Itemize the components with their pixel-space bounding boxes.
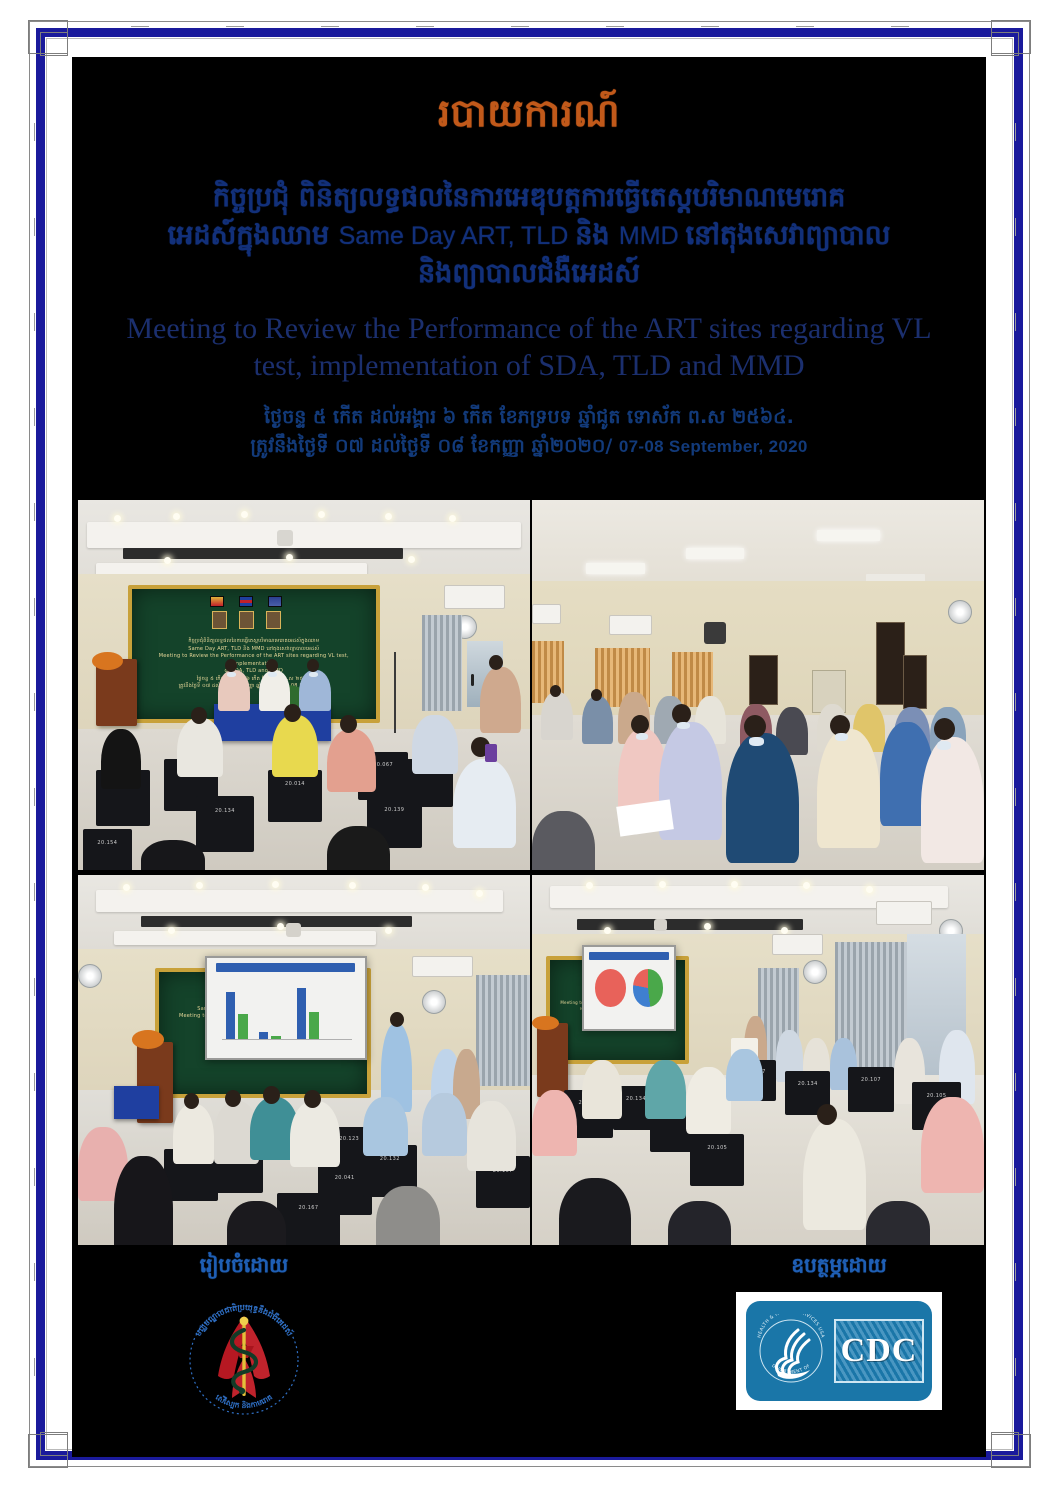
air-conditioner	[609, 615, 652, 636]
audience-head	[591, 689, 602, 701]
face-mask	[835, 733, 848, 741]
audience-member	[376, 1186, 439, 1245]
audience-member	[101, 729, 142, 788]
microphone-icon	[471, 674, 474, 686]
chair: 20.107	[848, 1067, 893, 1111]
air-conditioner	[876, 901, 932, 925]
downlight	[449, 515, 456, 522]
bar	[238, 1014, 247, 1040]
wall-fan-icon	[948, 600, 972, 624]
curtain	[476, 975, 530, 1086]
frame-corner-inner-bottom-left	[40, 1432, 68, 1456]
poster-title-khmer-line2: អេដស៍ក្នុងឈាម Same Day ART, TLD និង MMD …	[98, 217, 960, 255]
door	[903, 655, 928, 709]
date-km-l2: ត្រូវនឹងថ្ងៃទី ០៧ ដល់ថ្ងៃទី ០៨ ខែកញ្ញា ឆ…	[250, 435, 619, 457]
panelist-head	[307, 659, 319, 672]
audience-head	[340, 715, 357, 733]
audience-member	[412, 715, 457, 774]
photo-bar-chart-presentation: Same Day ART, TLD និង MMD នៅតុងសេវាព្យាប…	[78, 875, 530, 1245]
audience-member-front	[866, 1201, 929, 1245]
face-mask	[636, 733, 648, 740]
bar	[309, 1012, 318, 1040]
ceiling-beam	[96, 890, 503, 912]
ceiling-projector	[277, 530, 293, 546]
chair-number: 20.134	[791, 1081, 825, 1087]
audience-member	[177, 718, 222, 777]
poster-title-english: Meeting to Review the Performance of the…	[72, 310, 986, 385]
downlight	[114, 515, 121, 522]
chair-number: 20.041	[324, 1175, 365, 1181]
downlight	[196, 882, 203, 889]
ceiling-projector	[286, 923, 301, 937]
audience-member	[582, 1060, 623, 1119]
ceiling-slot	[577, 919, 803, 930]
board-line: Meeting to Review the Performance of the…	[151, 653, 356, 668]
poster-heading-report: របាយការណ៍	[72, 93, 986, 135]
chair-number: 20.167	[284, 1205, 332, 1211]
air-conditioner	[444, 585, 505, 609]
slide-title-bar	[216, 963, 355, 972]
poster-date-block: ថ្ងៃចន្ទ ៥ កើត ដល់អង្គារ ៦ កើត ខែភទ្របទ …	[72, 403, 986, 462]
mic-stand	[394, 652, 396, 733]
audience-member	[114, 1156, 173, 1245]
photo-pie-chart-presentation: Meeting to Review the Performance of the…	[532, 875, 984, 1245]
poster-title-english-line2: test, implementation of SDA, TLD and MMD	[106, 347, 952, 385]
chair-number: 20.132	[369, 1156, 410, 1162]
downlight	[731, 881, 738, 888]
poster-title-english-line1: Meeting to Review the Performance of the…	[106, 310, 952, 348]
downlight	[173, 513, 180, 520]
door	[749, 655, 778, 705]
poster-date-khmer-line2: ត្រូវនឹងថ្ងៃទី ០៧ ដល់ថ្ងៃទី ០៨ ខែកញ្ញា ឆ…	[102, 432, 956, 461]
nchads-emblem: មជ្ឈមណ្ឌលជាតិប្រយុទ្ធនឹងជំងឺអេដស៍ សើស្បែ…	[178, 1294, 310, 1426]
board-line: កិច្ចប្រជុំពិនិត្យលទ្ធផលនៃការធ្វើតេស្តបរ…	[151, 638, 356, 646]
audience-member	[467, 1101, 517, 1171]
slide-title-bar	[589, 952, 669, 960]
photo-audience	[532, 500, 984, 870]
audience-head	[817, 1104, 837, 1125]
projection-screen	[582, 945, 676, 1030]
cdc-wordmark: CDC	[834, 1319, 924, 1383]
face-mask	[937, 741, 951, 750]
bar	[226, 992, 235, 1040]
audience-member	[541, 692, 573, 740]
poster-date-english: 07-08 September, 2020	[619, 437, 808, 456]
poster-title-khmer-line1: កិច្ចប្រជុំ ពិនិត្យលទ្ធផលនៃការអេឌុបត្តកា…	[98, 179, 960, 217]
title-km-l2-c: នៅតុងសេវាព្យាបាល	[686, 220, 891, 251]
audience-head	[744, 715, 766, 738]
downlight	[318, 511, 325, 518]
poster-date-khmer-line1: ថ្ងៃចន្ទ ៥ កើត ដល់អង្គារ ៦ កើត ខែភទ្របទ …	[102, 403, 956, 432]
phone-screen	[485, 744, 497, 762]
audience-member	[645, 1060, 686, 1119]
audience-member-front	[803, 1119, 866, 1230]
audience-head	[672, 704, 691, 724]
frame-corner-inner-top-right	[991, 32, 1019, 56]
standing-speaker	[480, 667, 521, 734]
ceiling-projector	[654, 919, 667, 931]
title-km-l2-b: និង	[575, 220, 619, 251]
supported-by-label: ឧបត្ថម្ភដោយ	[724, 1252, 954, 1282]
cdc-logo: HEALTH & HUMAN SERVICES USA DEPARTMENT O…	[736, 1292, 942, 1410]
audience-member-front	[559, 1178, 631, 1245]
portrait-photo	[266, 611, 281, 629]
poster-title-khmer: កិច្ចប្រជុំ ពិនិត្យលទ្ធផលនៃការអេឌុបត្តកា…	[72, 179, 986, 294]
audience-member	[272, 715, 317, 778]
board-line: Same Day ART, TLD និង MMD នៅតុងសេវាព្យាប…	[151, 646, 356, 654]
credits-row: រៀបចំដោយ មជ្ឈមណ្ឌលជាតិប្រយុទ្ធនឹងជំងឺអេដ…	[72, 1252, 986, 1452]
downlight	[272, 881, 279, 888]
credit-supported-by: ឧបត្ថម្ភដោយ HEALTH & HUMAN S	[724, 1252, 954, 1410]
title-km-l2-a: អេដស៍ក្នុងឈាម	[168, 220, 339, 251]
flower-arrangement	[132, 1030, 164, 1049]
air-conditioner	[532, 604, 561, 625]
axis	[222, 1039, 352, 1040]
foreground-chair	[532, 811, 595, 870]
audience-member	[726, 1049, 762, 1101]
chair: 20.167	[277, 1193, 340, 1245]
ceiling-light	[817, 530, 880, 541]
pie-chart	[633, 969, 664, 1006]
downlight	[286, 554, 293, 561]
downlight	[277, 923, 284, 930]
chair-number: 20.105	[697, 1145, 738, 1151]
face-mask	[227, 672, 236, 677]
audience-member	[453, 759, 516, 848]
audience-member	[227, 1201, 286, 1245]
face-mask	[268, 672, 277, 677]
title-km-l2-latin2: MMD	[619, 222, 686, 250]
face-mask	[677, 722, 690, 729]
flag-icon	[210, 596, 224, 607]
side-table	[114, 1086, 159, 1119]
photo-grid: កិច្ចប្រជុំពិនិត្យលទ្ធផលនៃការធ្វើតេស្តបរ…	[78, 500, 984, 1245]
chair: 20.105	[690, 1134, 744, 1186]
audience-head	[225, 1090, 241, 1107]
poster-title-khmer-line3: និងព្យាបាលជំងឺអេដស៍	[98, 255, 960, 293]
curtain	[422, 615, 463, 711]
ceiling-light	[686, 548, 745, 559]
audience-member-front	[817, 729, 880, 847]
speaker-box	[704, 622, 727, 644]
audience-member	[422, 1093, 467, 1156]
downlight	[241, 511, 248, 518]
air-conditioner	[412, 956, 473, 977]
title-km-l2-latin1: Same Day ART, TLD	[339, 222, 576, 250]
podium	[537, 1023, 569, 1097]
credit-organized-by: រៀបចំដោយ មជ្ឈមណ្ឌលជាតិប្រយុទ្ធនឹងជំងឺអេដ…	[134, 1252, 354, 1426]
chair-number: 20.014	[274, 781, 315, 787]
chair: 20.014	[268, 770, 322, 822]
ceiling-beam	[87, 522, 521, 548]
stage-banner-board: កិច្ចប្រជុំពិនិត្យលទ្ធផលនៃការធ្វើតេស្តបរ…	[128, 585, 380, 723]
projection-screen	[205, 956, 367, 1060]
chair-number: 20.107	[854, 1077, 888, 1083]
poster-page: របាយការណ៍ កិច្ចប្រជុំ ពិនិត្យលទ្ធផលនៃការ…	[0, 0, 1059, 1496]
cdc-logo-inner: HEALTH & HUMAN SERVICES USA DEPARTMENT O…	[746, 1301, 932, 1401]
flag-icon	[239, 596, 253, 607]
face-mask	[749, 737, 764, 746]
door	[876, 622, 905, 705]
audience-member	[173, 1104, 214, 1163]
downlight	[422, 884, 429, 891]
audience-member	[327, 729, 377, 792]
bar	[297, 988, 306, 1040]
frame-corner-inner-bottom-right	[991, 1432, 1019, 1456]
ceiling-beam	[114, 931, 376, 946]
audience-member	[327, 826, 390, 870]
downlight	[704, 923, 711, 930]
organized-by-label: រៀបចំដោយ	[134, 1252, 354, 1282]
air-conditioner	[772, 934, 824, 955]
downlight	[408, 556, 415, 563]
portrait-photo	[212, 611, 227, 629]
face-mask	[309, 672, 318, 677]
audience-member	[686, 1067, 731, 1134]
audience-member-front	[726, 733, 798, 863]
downlight	[476, 890, 483, 897]
ceiling-light	[586, 563, 645, 574]
red-circle	[595, 969, 626, 1006]
downlight	[781, 927, 788, 934]
hhs-bird-icon: HEALTH & HUMAN SERVICES USA DEPARTMENT O…	[754, 1314, 828, 1388]
audience-head	[550, 685, 561, 697]
downlight	[659, 881, 666, 888]
audience-member-front	[668, 1201, 731, 1245]
wall-fan-icon	[422, 990, 446, 1014]
photo-opening-panel: កិច្ចប្រជុំពិនិត្យលទ្ធផលនៃការធ្វើតេស្តបរ…	[78, 500, 530, 870]
audience-head	[631, 715, 649, 734]
chair-number: 20.139	[374, 807, 415, 813]
audience-head	[284, 704, 301, 722]
poster-body: របាយការណ៍ កិច្ចប្រជុំ ពិនិត្យលទ្ធផលនៃការ…	[72, 57, 986, 1457]
frame-corner-inner-top-left	[40, 32, 68, 56]
audience-member-front	[921, 737, 984, 863]
chair-number: 20.134	[203, 808, 248, 814]
wall-fan-icon	[78, 964, 102, 988]
audience-member	[363, 1097, 408, 1156]
audience-member-front	[921, 1097, 984, 1193]
presenter-head	[390, 1012, 404, 1027]
chair: 20.134	[196, 796, 255, 852]
audience-member	[582, 696, 614, 744]
chair-number: 20.154	[88, 840, 126, 846]
audience-member	[141, 840, 204, 870]
audience-member	[290, 1101, 340, 1168]
portrait-photo	[239, 611, 254, 629]
flag-icon	[268, 596, 282, 607]
audience-head	[304, 1090, 321, 1108]
chair: 20.154	[83, 829, 133, 870]
audience-member	[532, 1090, 577, 1157]
